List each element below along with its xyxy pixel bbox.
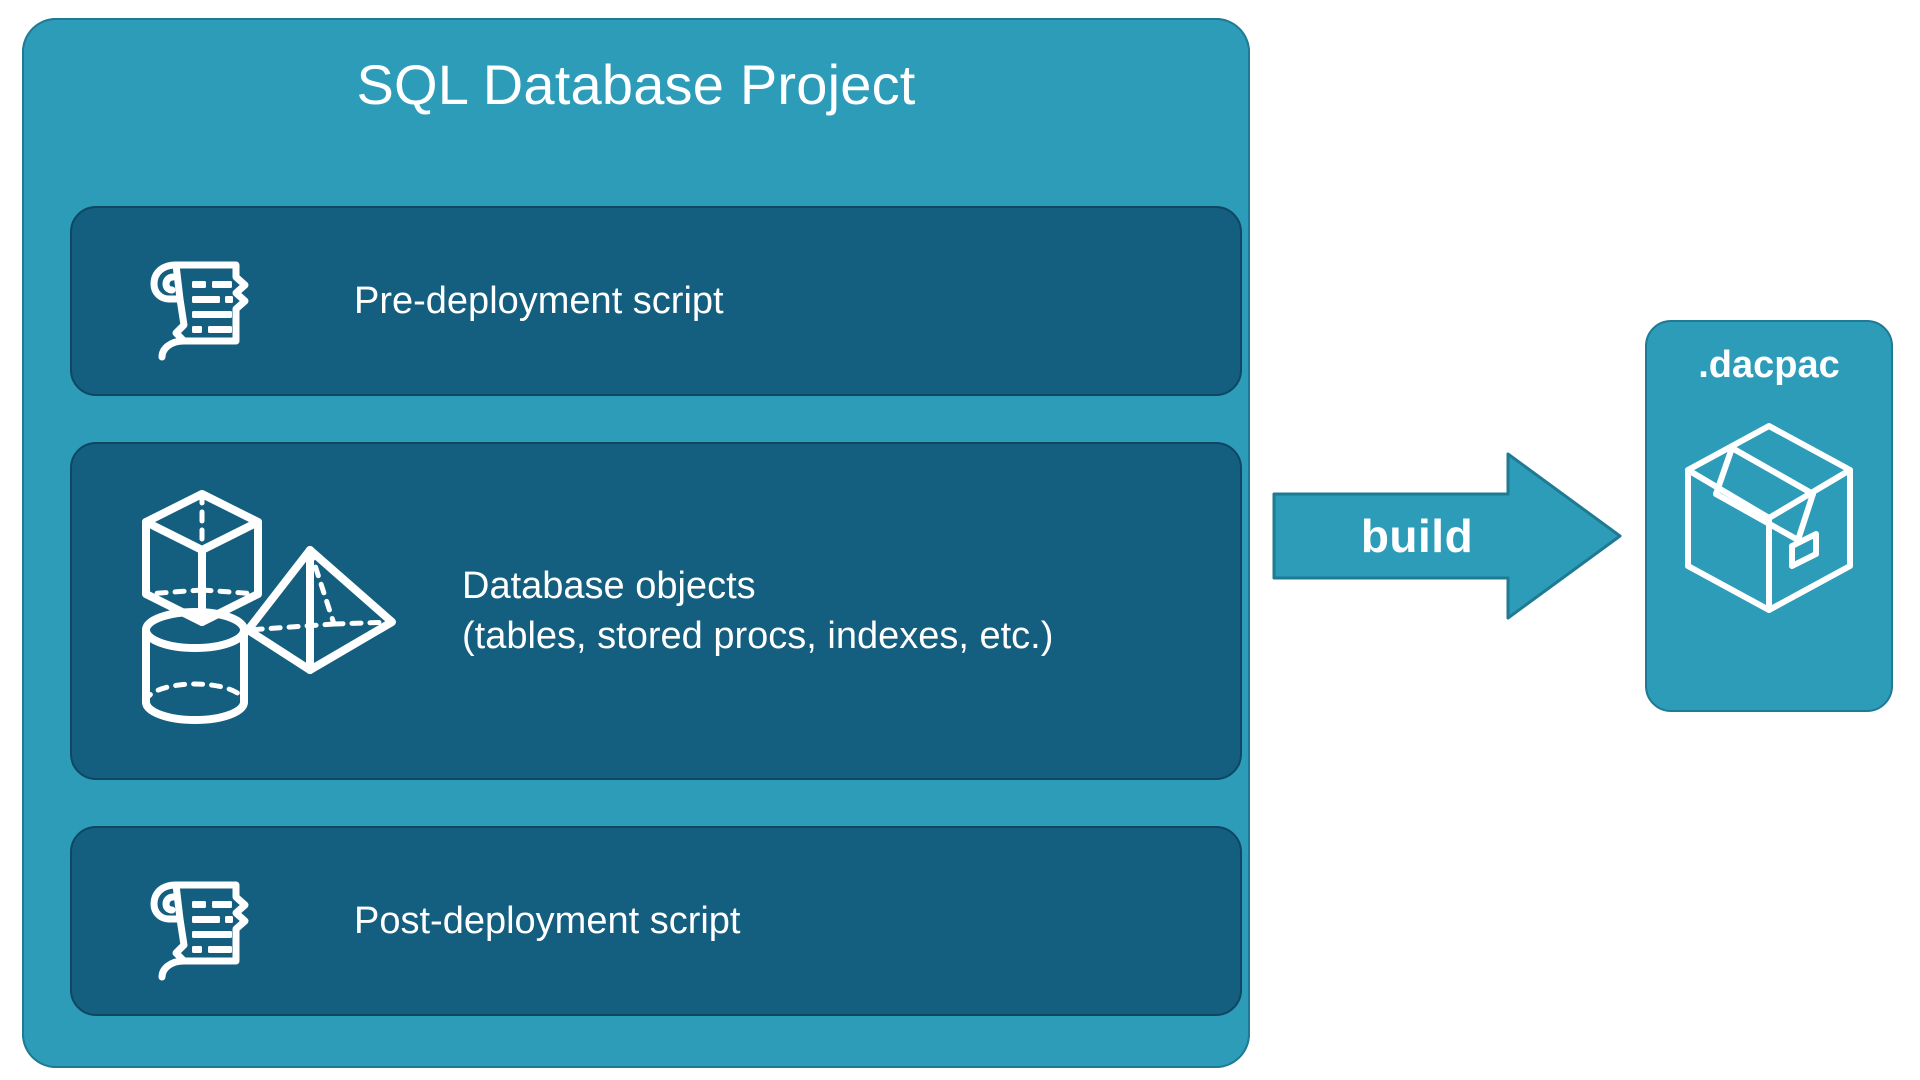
cylinder-icon [146, 612, 244, 720]
card-database-objects[interactable]: Database objects (tables, stored procs, … [70, 442, 1242, 780]
package-box-icon [1676, 418, 1862, 618]
scroll-icon [140, 237, 268, 365]
card-pre-deployment-label: Pre-deployment script [354, 276, 724, 326]
card-pre-deployment-script[interactable]: Pre-deployment script [70, 206, 1242, 396]
dacpac-output-box[interactable]: .dacpac [1645, 320, 1893, 712]
page-title: SQL Database Project [22, 54, 1250, 116]
dacpac-title: .dacpac [1647, 344, 1891, 387]
card-post-deployment-label: Post-deployment script [354, 896, 741, 946]
3d-shapes-icon [134, 486, 404, 736]
sql-database-project-container: SQL Database Project [22, 18, 1250, 1068]
pyramid-icon [248, 550, 392, 670]
card-post-deployment-script[interactable]: Post-deployment script [70, 826, 1242, 1016]
cube-icon [146, 494, 258, 622]
scroll-icon [140, 857, 268, 985]
card-database-objects-label: Database objects (tables, stored procs, … [462, 561, 1053, 661]
arrow-right-icon [1272, 452, 1622, 620]
diagram-canvas: SQL Database Project [0, 0, 1920, 1080]
